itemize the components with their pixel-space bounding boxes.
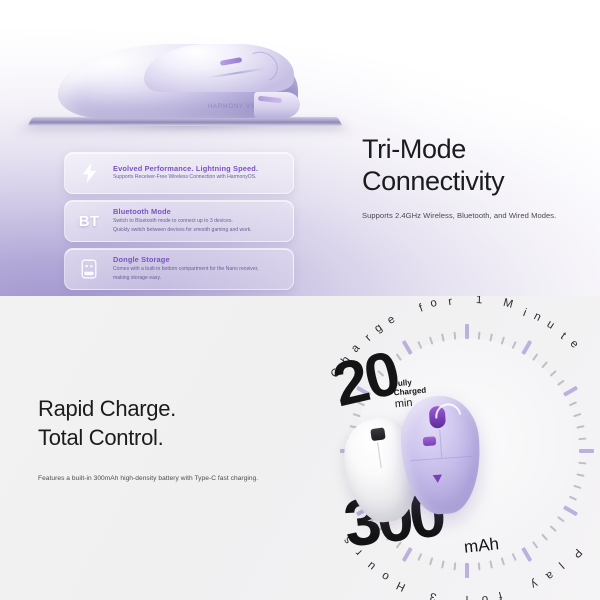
mouse-side-illustration: HARMONY V3 — [58, 40, 298, 118]
rapid-charge-text-block: Rapid Charge. Total Control. Features a … — [38, 394, 318, 482]
feature-card-desc-line: making storage easy. — [113, 275, 283, 283]
charge-minutes-number: 20 — [329, 346, 403, 415]
feature-card-list: Evolved Performance. Lightning Speed. Su… — [64, 152, 294, 296]
brand-logo-icon: ⯆ — [431, 471, 450, 488]
feature-card-text: Bluetooth Mode Switch to Bluetooth mode … — [113, 207, 293, 235]
bluetooth-bt-icon: BT — [65, 213, 113, 230]
bt-icon-label: BT — [79, 213, 100, 230]
headline-line-1: Rapid Charge. — [38, 396, 176, 421]
feature-card-title: Bluetooth Mode — [113, 207, 283, 216]
mouse-side-profile-hero: HARMONY V3 — [30, 24, 340, 134]
battery-capacity-unit: mAh — [463, 534, 500, 558]
mouse-brand-engraving: HARMONY V3 — [208, 104, 255, 110]
product-marketing-page: HARMONY V3 Evolved Performance. Lightnin… — [0, 0, 600, 600]
usb-dongle-icon — [65, 259, 113, 279]
mouse-lavender-illustration: ⯆ — [398, 393, 484, 516]
feature-card-title: Dongle Storage — [113, 255, 283, 264]
headline-line-2: Connectivity — [362, 166, 504, 196]
feature-card-dongle[interactable]: Dongle Storage Comes with a built-in bot… — [64, 248, 294, 290]
feature-card-text: Evolved Performance. Lightning Speed. Su… — [113, 164, 293, 183]
feature-card-desc-line: Switch to Bluetooth mode to connect up t… — [113, 218, 283, 226]
feature-card-performance[interactable]: Evolved Performance. Lightning Speed. Su… — [64, 152, 294, 194]
mouse-side-button — [423, 436, 437, 446]
tri-mode-headline-block: Tri-Mode Connectivity Supports 2.4GHz Wi… — [362, 134, 594, 220]
rapid-charge-subtitle: Features a built-in 300mAh high-density … — [38, 475, 318, 482]
tri-mode-subtitle: Supports 2.4GHz Wireless, Bluetooth, and… — [362, 211, 594, 220]
rapid-charge-panel: Rapid Charge. Total Control. Features a … — [0, 296, 600, 600]
feature-card-desc-line: Comes with a built-in bottom compartment… — [113, 266, 283, 274]
mouse-scroll-button — [370, 427, 386, 441]
rapid-charge-headline: Rapid Charge. Total Control. — [38, 394, 318, 453]
tri-mode-headline: Tri-Mode Connectivity — [362, 134, 594, 197]
battery-dial-graphic: Charge for 1 Minute Play for 3 Hours ⯆ 2… — [318, 300, 600, 600]
feature-card-title: Evolved Performance. Lightning Speed. — [113, 164, 283, 173]
headline-line-2: Total Control. — [38, 425, 163, 450]
display-platform — [27, 117, 342, 126]
feature-card-text: Dongle Storage Comes with a built-in bot… — [113, 255, 293, 283]
feature-card-desc-line: Quickly switch between devices for smoot… — [113, 227, 283, 235]
headline-line-1: Tri-Mode — [362, 134, 466, 164]
feature-card-desc-line: Supports Receiver-Free Wireless Connecti… — [113, 174, 283, 182]
lightning-bolt-icon — [65, 163, 113, 183]
tri-mode-connectivity-panel: HARMONY V3 Evolved Performance. Lightnin… — [0, 0, 600, 296]
feature-card-bluetooth[interactable]: BT Bluetooth Mode Switch to Bluetooth mo… — [64, 200, 294, 242]
